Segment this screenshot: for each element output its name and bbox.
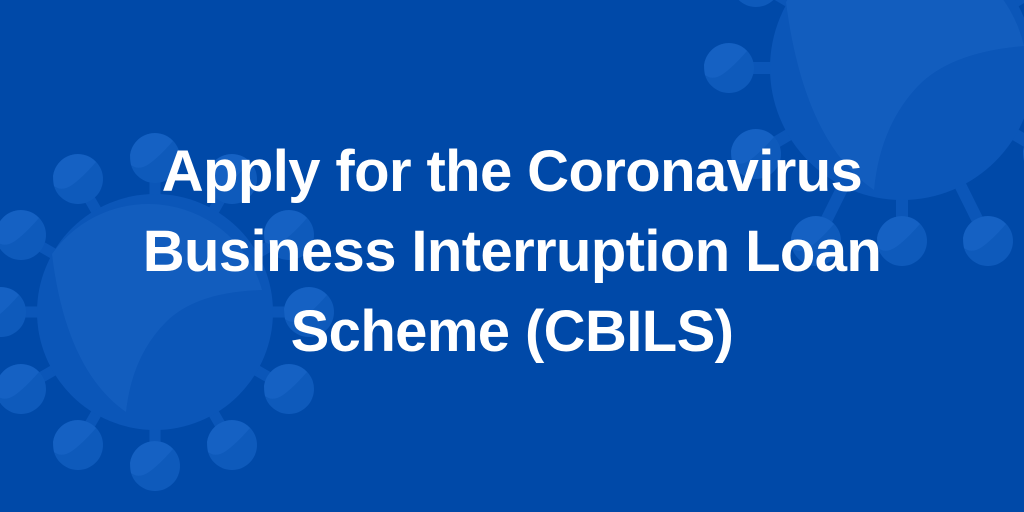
headline: Apply for the Coronavirus Business Inter…	[0, 132, 1024, 372]
headline-line-2: Business Interruption Loan	[24, 212, 1000, 292]
headline-line-3: Scheme (CBILS)	[24, 292, 1000, 372]
headline-line-1: Apply for the Coronavirus	[24, 132, 1000, 212]
cbils-banner: Apply for the Coronavirus Business Inter…	[0, 0, 1024, 512]
